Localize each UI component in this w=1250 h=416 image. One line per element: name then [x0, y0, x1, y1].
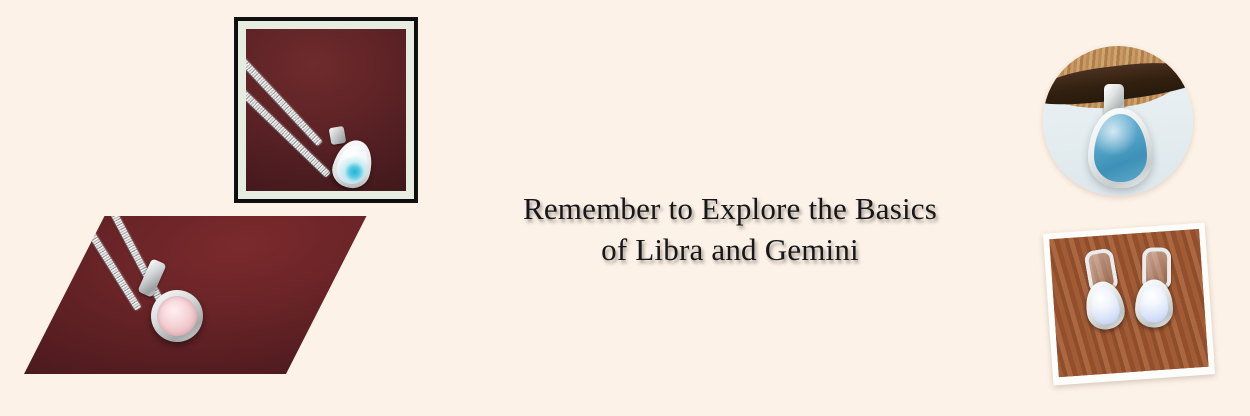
rose-quartz-pendant	[151, 290, 203, 342]
image-moonstone-teardrop-earrings	[1043, 223, 1215, 386]
rose-quartz-gemstone	[157, 296, 197, 336]
aquamarine-teardrop-pendant	[1088, 108, 1153, 188]
image-rose-quartz-pendant	[24, 216, 367, 374]
photo-surface-wood	[1049, 229, 1208, 377]
photo-surface-rose-quartz	[24, 216, 286, 374]
image-opal-teardrop-necklace	[234, 17, 418, 203]
banner-heading: Remember to Explore the Basics of Libra …	[430, 189, 1030, 271]
moonstone-gemstone	[1140, 285, 1168, 323]
photo-surface-opal	[246, 29, 406, 191]
opal-gemstone	[333, 141, 373, 188]
moonstone-gemstone	[1088, 284, 1122, 326]
aquamarine-gemstone	[1094, 114, 1147, 182]
zodiac-gemstone-banner: Remember to Explore the Basics of Libra …	[0, 0, 1250, 416]
necklace-chain-strand	[76, 216, 141, 311]
necklace-chain-strand	[246, 85, 331, 178]
pendant-bail	[329, 126, 347, 145]
image-aquamarine-teardrop-pendant	[1043, 46, 1193, 196]
